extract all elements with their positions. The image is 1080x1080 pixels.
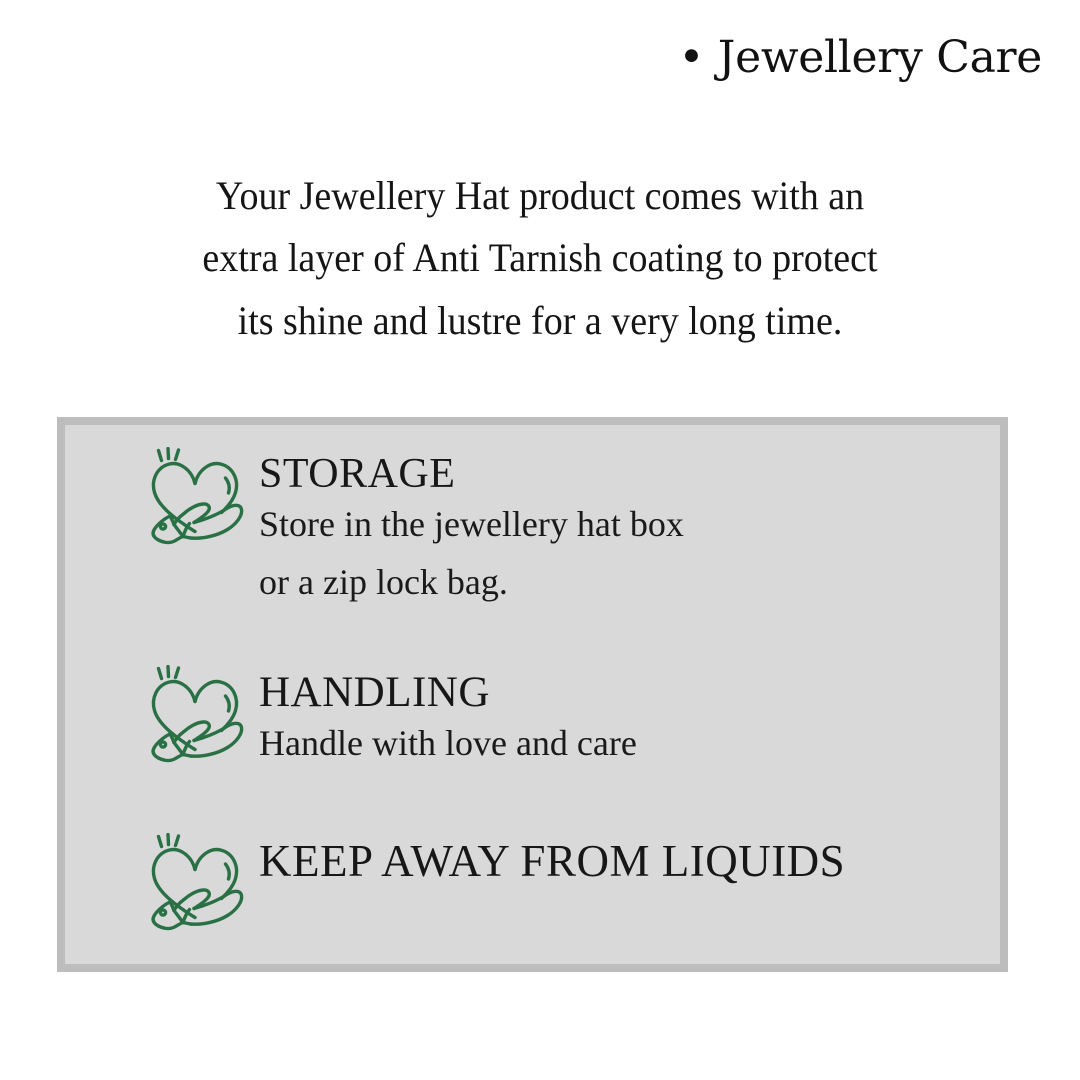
care-item-body-line-1: Handle with love and care (259, 714, 637, 772)
intro-line-2: extra layer of Anti Tarnish coating to p… (84, 227, 996, 289)
care-item-heading: HANDLING (259, 669, 490, 716)
hand-holding-heart-icon (143, 665, 247, 765)
care-item-heading: STORAGE (259, 451, 455, 497)
care-item-body-line-2: or a zip lock bag. (259, 553, 684, 611)
page-title: • Jewellery Care (678, 34, 1042, 82)
hand-holding-heart-icon (143, 833, 247, 933)
care-instructions-panel: STORAGE Store in the jewellery hat box o… (57, 417, 1008, 972)
care-item-text: KEEP AWAY FROM LIQUIDS (259, 833, 845, 884)
intro-line-3: its shine and lustre for a very long tim… (84, 290, 996, 352)
care-item-body: Handle with love and care (259, 714, 637, 772)
hand-holding-heart-icon (143, 447, 247, 547)
care-item-heading: KEEP AWAY FROM LIQUIDS (259, 810, 845, 886)
care-item-keep-away-from-liquids: KEEP AWAY FROM LIQUIDS (143, 833, 845, 933)
care-instructions-list: STORAGE Store in the jewellery hat box o… (65, 425, 1000, 964)
care-item-storage: STORAGE Store in the jewellery hat box o… (143, 447, 684, 612)
care-item-text: STORAGE Store in the jewellery hat box o… (259, 447, 684, 612)
care-item-body: Store in the jewellery hat box or a zip … (259, 495, 684, 612)
care-item-body-line-1: Store in the jewellery hat box (259, 495, 684, 553)
care-item-text: HANDLING Handle with love and care (259, 665, 637, 772)
intro-line-1: Your Jewellery Hat product comes with an (84, 165, 996, 227)
intro-paragraph: Your Jewellery Hat product comes with an… (84, 165, 996, 352)
care-item-handling: HANDLING Handle with love and care (143, 665, 637, 772)
